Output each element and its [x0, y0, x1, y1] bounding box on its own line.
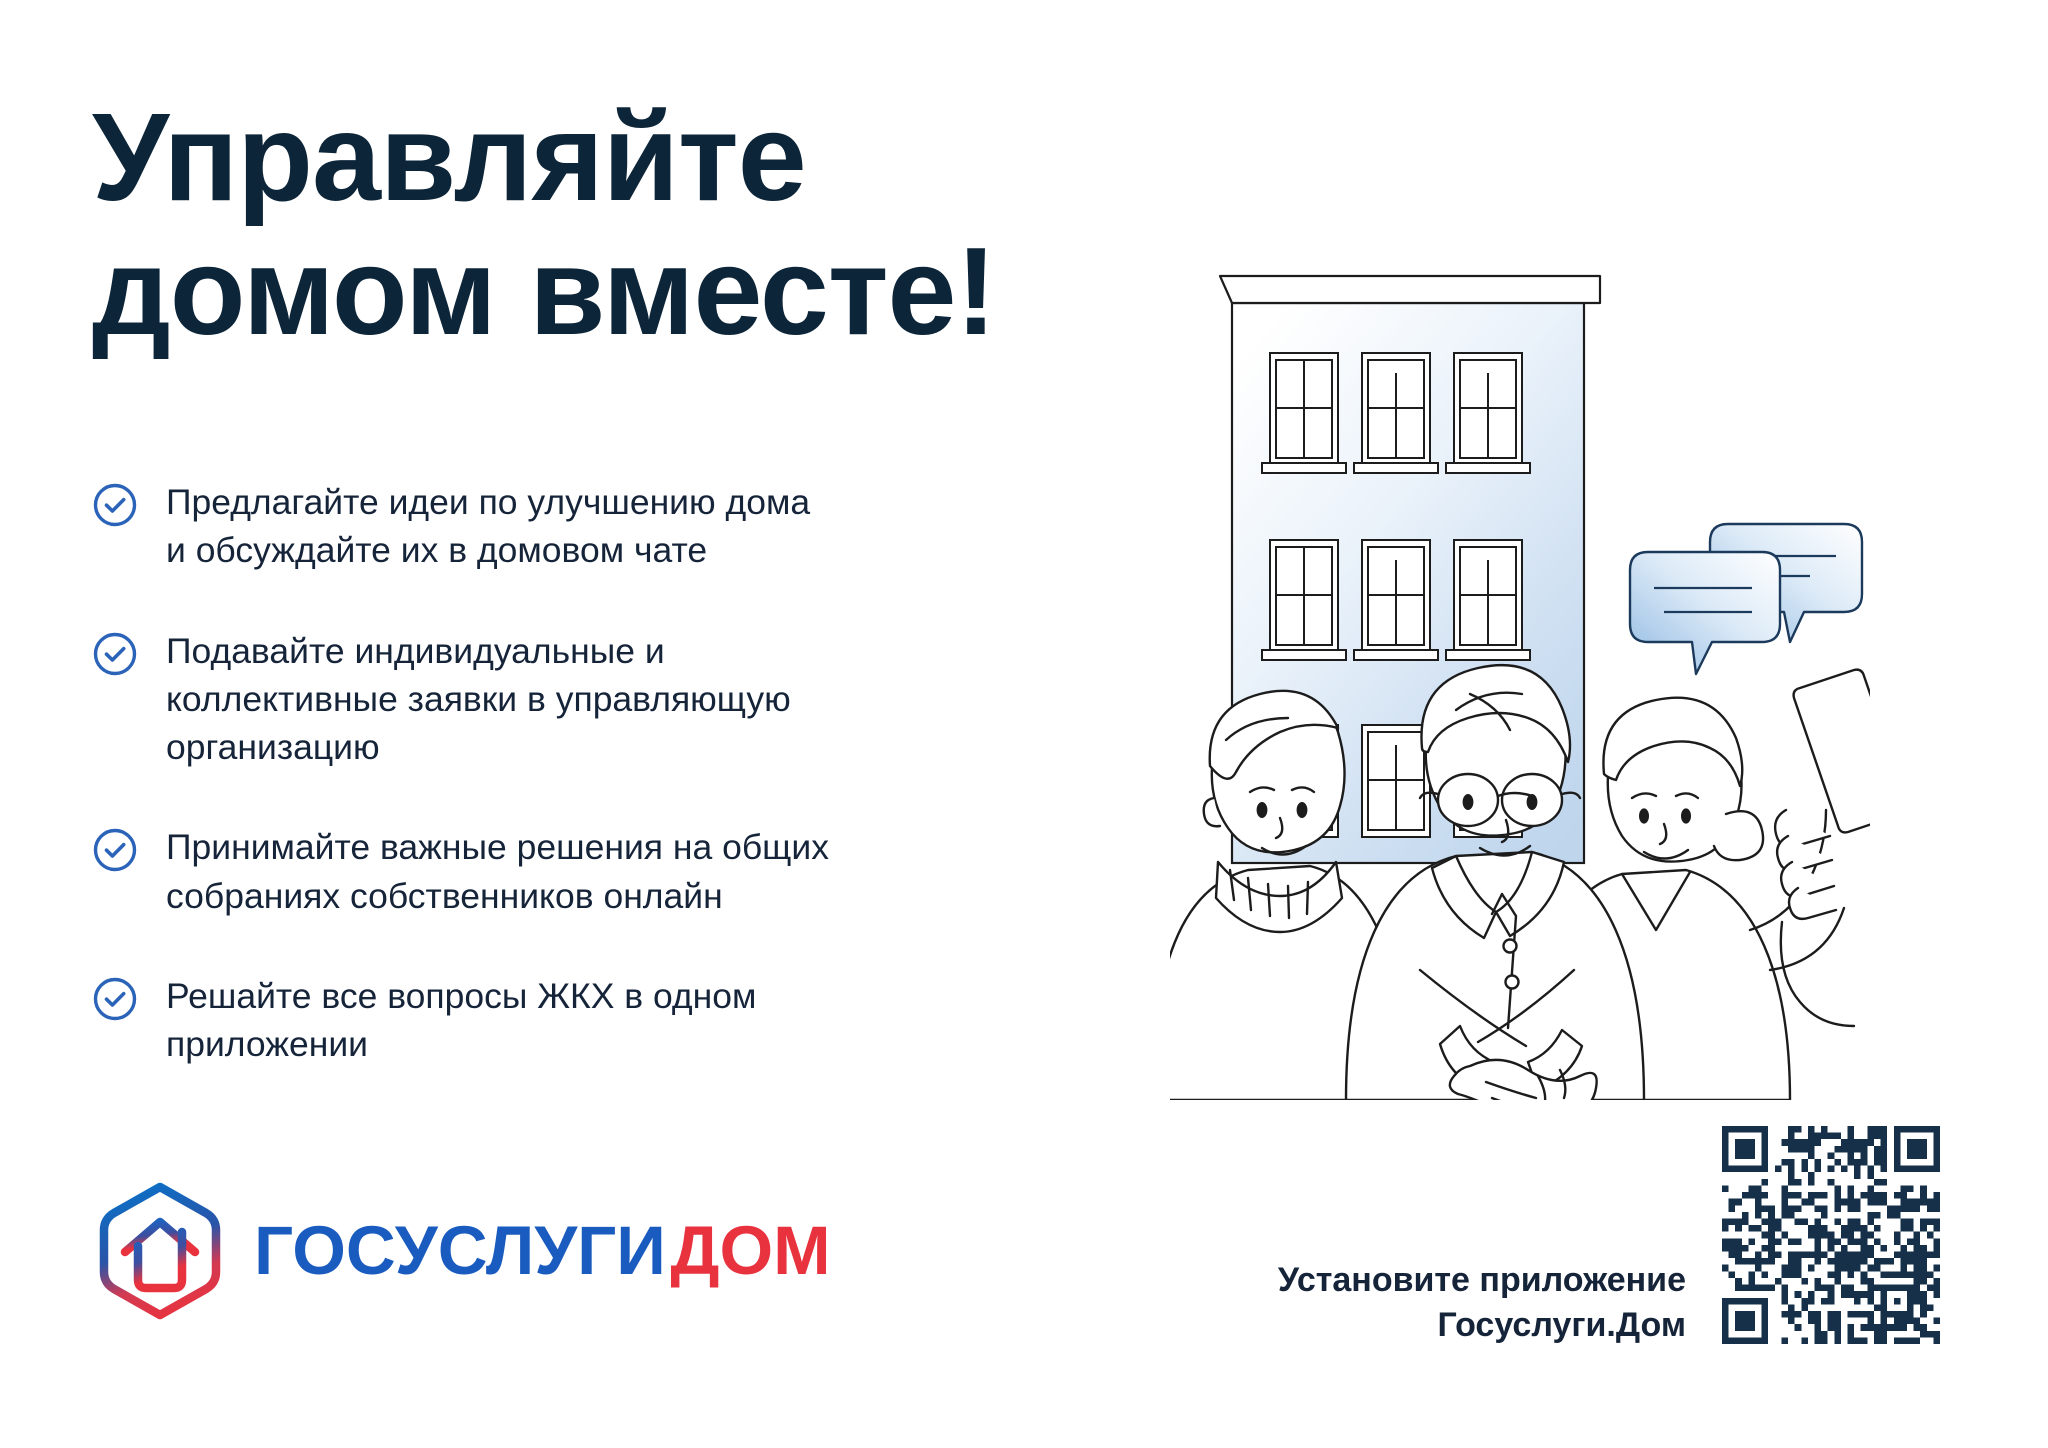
- benefits-list: Предлагайте идеи по улучшению дома и обс…: [92, 478, 892, 1068]
- list-item-label: Принимайте важные решения на общих собра…: [166, 823, 829, 920]
- list-item-label: Решайте все вопросы ЖКХ в одном приложен…: [166, 972, 756, 1069]
- list-item: Решайте все вопросы ЖКХ в одном приложен…: [92, 972, 892, 1069]
- list-item-label: Подавайте индивидуальные и коллективные …: [166, 627, 791, 772]
- check-circle-icon: [92, 827, 138, 873]
- check-circle-icon: [92, 482, 138, 528]
- check-circle-icon: [92, 631, 138, 677]
- brand-logo-line-gosuslugi: ГОСУСЛУГИ: [254, 1212, 666, 1289]
- app-download-qr-code[interactable]: [1722, 1126, 1940, 1344]
- brand-logo-wordmark: ГОСУСЛУГИ ДОМ: [254, 1219, 831, 1284]
- install-app-line-2: Госуслуги.Дом: [1236, 1303, 1686, 1348]
- check-circle-icon: [92, 976, 138, 1022]
- hero-illustration: [1170, 270, 1870, 1100]
- page-title: Управляйте домом вместе!: [92, 92, 1242, 360]
- chat-bubbles-icon: [1630, 524, 1862, 674]
- list-item: Предлагайте идеи по улучшению дома и обс…: [92, 478, 892, 575]
- install-app-caption: Установите приложение Госуслуги.Дом: [1236, 1258, 1686, 1348]
- brand-logo-line-dom: ДОМ: [670, 1212, 830, 1289]
- brand-logo: ГОСУСЛУГИ ДОМ: [94, 1180, 831, 1322]
- poster-root: Управляйте домом вместе! Предлагайте иде…: [0, 0, 2048, 1448]
- list-item-label: Предлагайте идеи по улучшению дома и обс…: [166, 478, 810, 575]
- gosuslugi-dom-house-hexagon-logo-icon: [94, 1180, 226, 1322]
- list-item: Подавайте индивидуальные и коллективные …: [92, 627, 892, 772]
- install-app-line-1: Установите приложение: [1236, 1258, 1686, 1303]
- list-item: Принимайте важные решения на общих собра…: [92, 823, 892, 920]
